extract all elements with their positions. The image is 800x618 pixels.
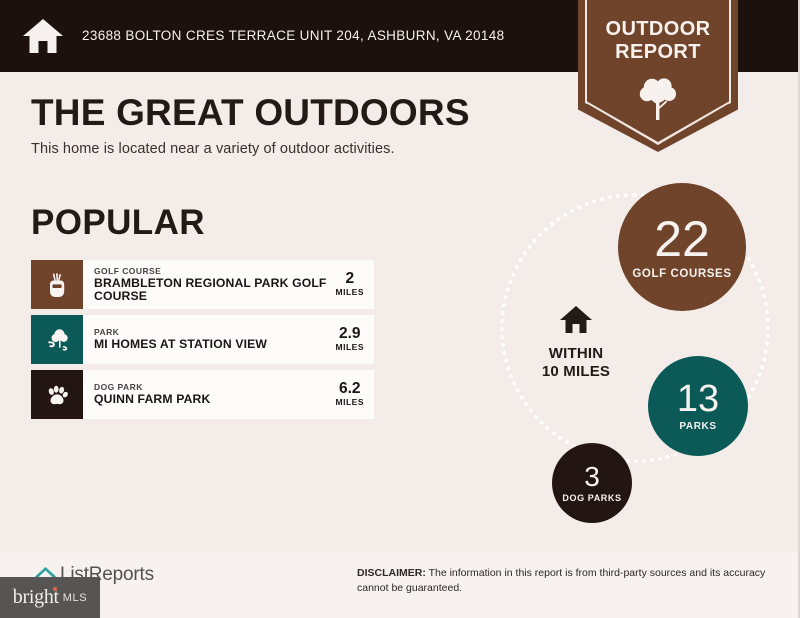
stat-value: 22 [654, 214, 710, 264]
bright-word-text: bright [13, 586, 59, 608]
stat-circle-parks: 13 PARKS [648, 356, 748, 456]
list-item-name: BRAMBLETON REGIONAL PARK GOLF COURSE [94, 277, 330, 304]
stat-value: 3 [584, 463, 600, 491]
list-item[interactable]: GOLF COURSE BRAMBLETON REGIONAL PARK GOL… [31, 260, 374, 309]
bright-accent-dot [53, 587, 57, 591]
home-icon [559, 305, 593, 335]
list-item-name: QUINN FARM PARK [94, 393, 330, 407]
page-subtitle: This home is located near a variety of o… [31, 141, 551, 157]
popular-heading: POPULAR [31, 203, 205, 243]
home-icon [22, 17, 64, 55]
paw-print-icon [44, 382, 70, 408]
list-item-distance: 6.2 MILES [330, 381, 374, 408]
list-item-distance-value: 6.2 [336, 381, 364, 397]
disclaimer: DISCLAIMER: The information in this repo… [357, 566, 777, 595]
list-item-distance-value: 2.9 [336, 326, 364, 342]
stat-value: 13 [677, 380, 719, 418]
badge-title: OUTDOOR REPORT [578, 18, 738, 64]
list-item-text: GOLF COURSE BRAMBLETON REGIONAL PARK GOL… [94, 266, 330, 304]
list-item-body: DOG PARK QUINN FARM PARK 6.2 MILES [83, 370, 374, 419]
list-item-icon-tile [31, 260, 83, 309]
property-address: 23688 BOLTON CRES TERRACE UNIT 204, ASHB… [82, 27, 504, 45]
list-item-text: DOG PARK QUINN FARM PARK [94, 382, 330, 407]
popular-list: GOLF COURSE BRAMBLETON REGIONAL PARK GOL… [31, 260, 374, 425]
list-item[interactable]: PARK MI HOMES AT STATION VIEW 2.9 MILES [31, 315, 374, 364]
list-item-distance-unit: MILES [336, 287, 364, 298]
stat-label: PARKS [679, 421, 716, 433]
list-item-body: PARK MI HOMES AT STATION VIEW 2.9 MILES [83, 315, 374, 364]
stat-circle-golf-courses: 22 GOLF COURSES [618, 183, 746, 311]
within-radius-block: WITHIN 10 MILES [516, 305, 636, 381]
golf-bag-icon [44, 272, 70, 298]
within-radius-text: WITHIN 10 MILES [516, 345, 636, 381]
outdoor-report-page: 23688 BOLTON CRES TERRACE UNIT 204, ASHB… [0, 0, 800, 618]
tree-icon [639, 75, 677, 121]
title-block: THE GREAT OUTDOORS This home is located … [31, 92, 551, 157]
park-tree-icon [44, 327, 70, 353]
list-item-distance-unit: MILES [336, 397, 364, 408]
disclaimer-label: DISCLAIMER: [357, 567, 426, 579]
list-item-name: MI HOMES AT STATION VIEW [94, 338, 330, 352]
list-item-text: PARK MI HOMES AT STATION VIEW [94, 327, 330, 352]
outdoor-stats-diagram: 22 GOLF COURSES 13 PARKS 3 DOG PARKS WIT… [470, 165, 800, 545]
list-item-distance: 2.9 MILES [330, 326, 374, 353]
stat-label: GOLF COURSES [632, 268, 731, 280]
list-item-icon-tile [31, 315, 83, 364]
outdoor-report-badge: OUTDOOR REPORT [578, 0, 738, 152]
list-item-distance-unit: MILES [336, 342, 364, 353]
bright-mls-watermark: bright MLS [0, 577, 100, 618]
list-item-distance-value: 2 [336, 271, 364, 287]
mls-wordmark: MLS [63, 592, 87, 604]
list-item-distance: 2 MILES [330, 271, 374, 298]
list-item-icon-tile [31, 370, 83, 419]
within-line-2: 10 MILES [516, 363, 636, 381]
page-title: THE GREAT OUTDOORS [31, 92, 551, 134]
stat-circle-dog-parks: 3 DOG PARKS [552, 443, 632, 523]
list-item[interactable]: DOG PARK QUINN FARM PARK 6.2 MILES [31, 370, 374, 419]
footer: ListReports DISCLAIMER: The information … [0, 552, 800, 618]
stat-label: DOG PARKS [562, 493, 621, 503]
bright-wordmark: bright [13, 586, 59, 609]
list-item-body: GOLF COURSE BRAMBLETON REGIONAL PARK GOL… [83, 260, 374, 309]
list-item-category: GOLF COURSE [94, 266, 330, 277]
within-line-1: WITHIN [516, 345, 636, 363]
